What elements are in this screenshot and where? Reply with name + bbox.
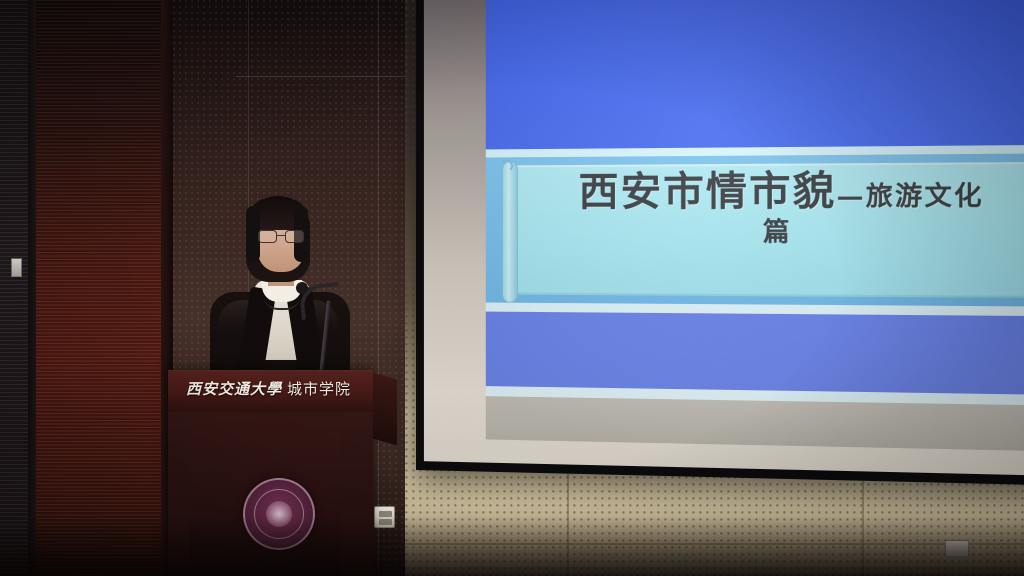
wall-seam-vertical-b <box>378 0 379 576</box>
floor-shadow <box>0 516 1024 576</box>
slide-band-blue-lower <box>486 312 1024 396</box>
wall-wood-panel <box>36 0 161 576</box>
slide-title-sub-text: 旅游文化 <box>866 180 984 211</box>
podium-side-panel <box>373 373 397 446</box>
scroll-curl-left-icon <box>500 159 513 172</box>
scroll-roll-left <box>502 161 518 302</box>
lecture-hall-scene: 西安市情市貌—旅游文化 篇 <box>0 0 1024 576</box>
wall-left-slat-panel <box>0 0 30 576</box>
slide-title-block: 西安市情市貌—旅游文化 篇 <box>542 171 1023 245</box>
slide-footer-area <box>486 396 1024 451</box>
podium-inscription: 西安交通大學城市学院 <box>186 378 371 399</box>
projected-slide: 西安市情市貌—旅游文化 篇 <box>486 0 1024 452</box>
eyeglasses-lens-right <box>285 230 304 243</box>
microphone-head-icon[interactable] <box>296 282 308 294</box>
slide-watermark-logo <box>559 0 612 6</box>
projection-screen-surface: 西安市情市貌—旅游文化 篇 <box>424 0 1024 476</box>
slide-title-line-1: 西安市情市貌—旅游文化 <box>542 171 1023 213</box>
eyeglasses-bridge <box>277 235 285 236</box>
eyeglasses-icon <box>258 230 306 243</box>
podium-university-name: 西安交通大學 <box>186 380 282 398</box>
slide-title-dash: — <box>837 181 866 211</box>
slide-title-line-2: 篇 <box>542 218 1023 245</box>
eyeglasses-lens-left <box>258 230 277 243</box>
wall-switch[interactable] <box>11 258 22 277</box>
projection-screen-frame: 西安市情市貌—旅游文化 篇 <box>416 0 1024 485</box>
slide-title-scroll: 西安市情市貌—旅游文化 篇 <box>508 162 1024 298</box>
wall-seam-horizontal-a <box>236 76 406 77</box>
slide-title-main-text: 西安市情市貌 <box>579 167 837 215</box>
podium-college-name: 城市学院 <box>287 380 351 398</box>
